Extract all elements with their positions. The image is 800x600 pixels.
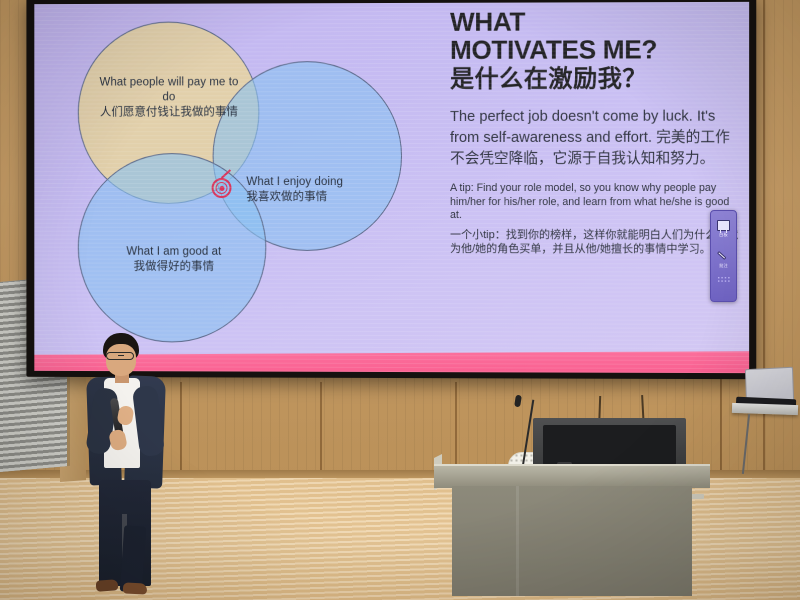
presenter — [66, 330, 206, 600]
tip-paragraph-en: A tip: Find your role model, so you know… — [450, 182, 744, 223]
eyeglasses-icon — [106, 352, 134, 360]
venn-label-enjoy-cn: 我喜欢做的事情 — [246, 190, 396, 205]
headline-chinese: 是什么在激励我？ — [450, 64, 744, 94]
presentation-screen: What people will pay me to do 人们愿意付钱让我做的… — [26, 0, 756, 379]
face — [106, 344, 136, 376]
lectern-handle — [690, 494, 704, 499]
venn-label-enjoy-en: What I enjoy doing — [246, 175, 396, 190]
whiteboard-icon — [717, 220, 730, 231]
wall-seam — [320, 382, 322, 474]
lecture-room-scene: What people will pay me to do 人们愿意付钱让我做的… — [0, 0, 800, 600]
venn-label-good-cn: 我做得好的事情 — [90, 260, 259, 275]
lectern-body — [452, 486, 692, 596]
headline-line2: MOTIVATES ME? — [450, 36, 744, 64]
slide-text-column: WHAT MOTIVATES ME? 是什么在激励我？ The perfect … — [450, 8, 744, 257]
headline-line1: WHAT — [450, 8, 744, 36]
shoe-left — [96, 579, 119, 592]
venn-label-pay-cn: 人们愿意付钱让我做的事情 — [94, 105, 245, 120]
slide-content: What people will pay me to do 人们愿意付钱让我做的… — [34, 2, 749, 373]
keypad-dots-icon[interactable] — [717, 276, 731, 283]
shoe-right — [123, 582, 148, 594]
wall-seam — [455, 382, 457, 474]
podium-monitor — [533, 418, 686, 468]
lectern-top — [434, 464, 710, 488]
tip-paragraph-cn: 一个小tip：找到你的榜样，这样你就能明白人们为什么愿意为他/她的角色买单，并且… — [450, 228, 744, 257]
venn-label-good: What I am good at 我做得好的事情 — [90, 245, 259, 275]
pen-annotate-icon — [718, 250, 730, 262]
annotate-button-label: 批注 — [719, 263, 728, 269]
whiteboard-button[interactable]: 白板 — [712, 214, 735, 244]
body-paragraph: The perfect job doesn't come by luck. It… — [450, 107, 744, 170]
venn-label-pay-en: What people will pay me to do — [94, 75, 245, 105]
venn-label-pay: What people will pay me to do 人们愿意付钱让我做的… — [94, 75, 245, 120]
venn-label-good-en: What I am good at — [90, 245, 259, 260]
venn-diagram: What people will pay me to do 人们愿意付钱让我做的… — [72, 17, 410, 347]
annotate-button[interactable]: 批注 — [712, 244, 735, 274]
venn-label-enjoy: What I enjoy doing 我喜欢做的事情 — [246, 175, 396, 205]
target-icon — [211, 177, 233, 199]
wall-control-panel[interactable]: 白板 批注 — [710, 210, 737, 302]
